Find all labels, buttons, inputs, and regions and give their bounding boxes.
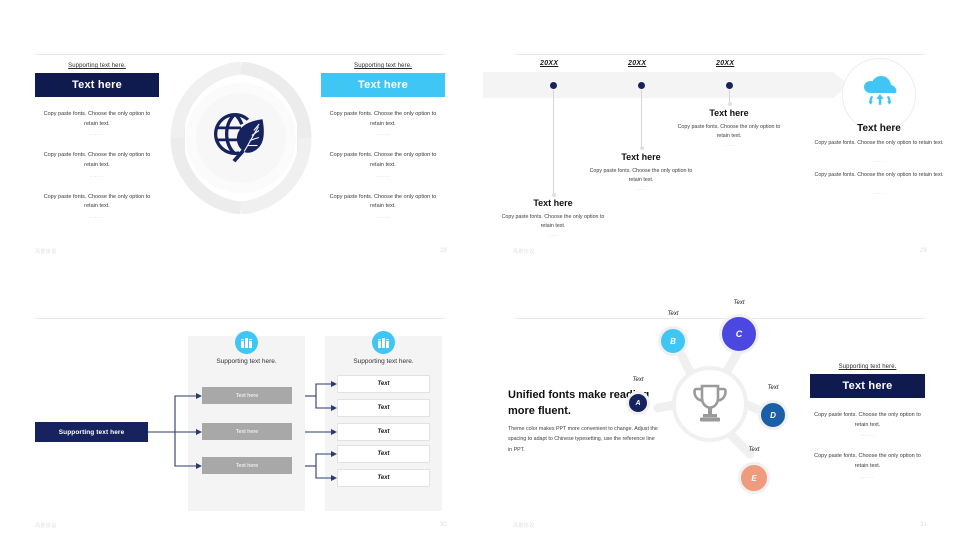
slide-31-layer: Unified fonts make reading more fluent. … [480,274,960,548]
supporting-text-label: Supporting text here. [35,63,159,69]
bubble-b[interactable]: B [658,326,688,356]
leaf-node[interactable]: Text [337,423,430,441]
bubble-letter: B [670,337,676,346]
page-number: 30 [440,522,447,528]
bubble-d[interactable]: D [758,400,788,430]
body-paragraph: Copy paste fonts. Choose the only option… [810,452,925,471]
bubble-letter: D [770,411,776,420]
leaf-node[interactable]: Text [337,445,430,463]
body-paragraph: Copy paste fonts. Choose the only option… [810,411,925,430]
trophy-icon [691,384,729,424]
slide-30-layer: Supporting text here. Supporting text he… [0,274,480,548]
slide-divider-rule [35,54,445,55]
bubble-letter: A [635,400,640,407]
paragraph-divider: ······ [321,132,445,138]
root-node[interactable]: Supporting text here [35,422,148,442]
paragraph-divider: ······ [35,132,159,138]
leaf-node[interactable]: Text [337,375,430,393]
mid-node[interactable]: Text here [202,457,292,474]
slide-deck: Supporting text here. Text here Copy pas… [0,0,960,548]
leaf-node[interactable]: Text [337,399,430,417]
page-number: 28 [440,248,447,254]
body-paragraph: Copy paste fonts. Choose the only option… [35,151,159,170]
mid-node[interactable]: Text here [202,387,292,404]
supporting-text-label: Supporting text here. [810,364,925,370]
body-paragraph: Copy paste fonts. Choose the only option… [35,193,159,212]
paragraph-divider: ······ [35,174,159,180]
slide-29 [480,0,960,274]
right-text-column: Supporting text here. Text here Copy pas… [810,364,925,481]
headline-band-cyan: Text here [321,73,445,97]
leaf-node[interactable]: Text [337,469,430,487]
bubble-letter: E [751,474,756,483]
headline-band-navy: Text here [35,73,159,97]
bubble-letter: C [736,329,743,339]
body-paragraph: Copy paste fonts. Choose the only option… [35,110,159,129]
page-number: 31 [920,522,927,528]
bubble-e-label: Text [734,447,774,453]
body-paragraph: Copy paste fonts. Choose the only option… [321,110,445,129]
globe-leaf-icon [209,106,273,170]
body-paragraph: Copy paste fonts. Choose the only option… [321,151,445,170]
headline-band-navy: Text here [810,374,925,398]
bubble-b-label: Text [653,311,693,317]
right-text-column: Supporting text here. Text here Copy pas… [321,63,445,221]
bubble-a-label: Text [618,377,658,383]
bubble-a[interactable]: A [626,391,650,415]
mid-node[interactable]: Text here [202,423,292,440]
footer-note: 风景协议 [513,522,535,529]
left-text-column: Supporting text here. Text here Copy pas… [35,63,159,221]
hub-circle [672,366,748,442]
bubble-d-label: Text [753,385,793,391]
paragraph-divider: ······ [810,475,925,481]
slide-28: Supporting text here. Text here Copy pas… [0,0,480,274]
bubble-c[interactable]: C [719,314,759,354]
slide-divider-rule [515,54,925,55]
bubble-e[interactable]: E [738,462,770,494]
cycle-ring-graphic [165,62,317,214]
paragraph-divider: ······ [321,215,445,221]
body-paragraph: Copy paste fonts. Choose the only option… [321,193,445,212]
supporting-text-label: Supporting text here. [321,63,445,69]
paragraph-divider: ······ [35,215,159,221]
paragraph-divider: ······ [810,433,925,439]
bubble-c-label: Text [719,300,759,306]
footer-note: 风景协议 [35,522,57,529]
footer-note: 风景协议 [35,248,57,255]
paragraph-divider: ······ [321,174,445,180]
